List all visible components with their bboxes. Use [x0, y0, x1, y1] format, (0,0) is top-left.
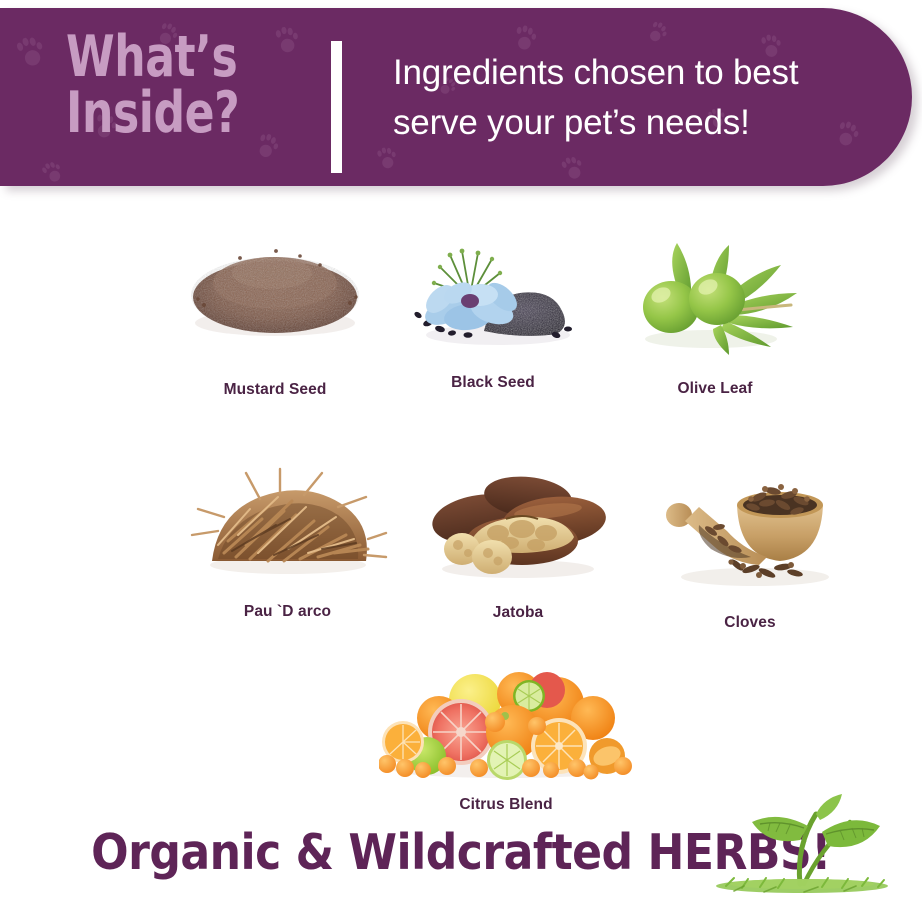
banner-headline: What’s Inside? [66, 30, 281, 142]
ingredient-card-black-seed[interactable]: Black Seed [393, 235, 593, 392]
ingredient-label: Pau `D arco [165, 603, 410, 621]
ingredient-label: Jatoba [400, 604, 636, 622]
paw-print-icon [374, 145, 400, 172]
black-seed-nigella-flower-image [406, 235, 581, 360]
paw-print-icon [12, 33, 49, 73]
citrus-fruit-pile-image [379, 660, 633, 780]
ingredient-card-jatoba[interactable]: Jatoba [400, 453, 636, 622]
header-banner: What’s Inside? Ingredients chosen to bes… [0, 8, 912, 186]
ingredient-card-olive-leaf[interactable]: Olive Leaf [615, 235, 815, 398]
footer-tagline: Organic & Wildcrafted HERBS! [0, 824, 922, 881]
paw-print-icon [643, 19, 671, 48]
paw-print-icon [38, 158, 67, 186]
banner-subhead: Ingredients chosen to best serve your pe… [393, 48, 873, 147]
ingredient-card-cloves[interactable]: Cloves [652, 453, 848, 632]
ingredient-card-citrus-blend[interactable]: Citrus Blend [376, 660, 636, 814]
ingredient-infographic: What’s Inside? Ingredients chosen to bes… [0, 0, 922, 906]
ingredient-card-mustard-seed[interactable]: Mustard Seed [150, 225, 400, 399]
ingredient-label: Olive Leaf [615, 380, 815, 398]
ingredient-label: Cloves [652, 614, 848, 632]
cloves-wooden-bowl-scoop-image [655, 453, 845, 598]
mustard-seed-pile-image [180, 225, 370, 365]
footer: Organic & Wildcrafted HERBS! [0, 810, 922, 898]
green-olives-with-leaves-image [625, 235, 805, 360]
jatoba-pods-image [418, 453, 618, 588]
paw-print-icon [558, 153, 588, 185]
ingredient-label: Black Seed [393, 374, 593, 392]
ingredient-label: Mustard Seed [150, 381, 400, 399]
ingredient-card-pau-darco[interactable]: Pau `D arco [165, 453, 410, 621]
pau-darco-bark-shavings-image [188, 453, 388, 583]
vertical-divider-icon [331, 41, 342, 173]
